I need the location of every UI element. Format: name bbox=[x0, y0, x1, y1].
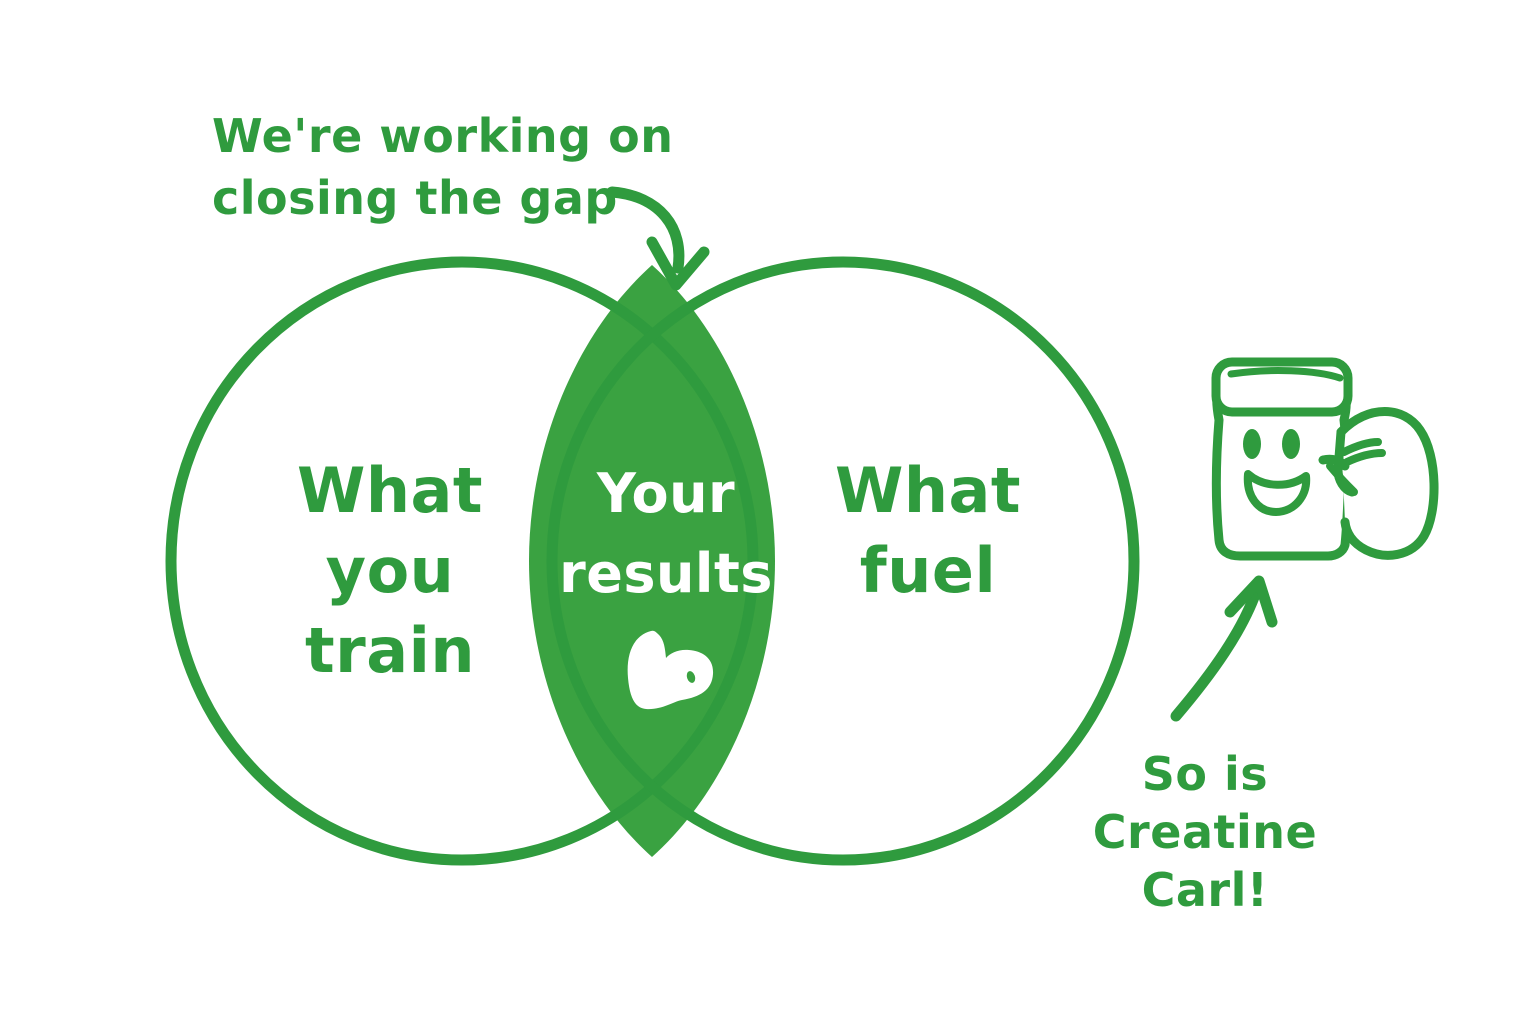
left-eye bbox=[1243, 429, 1261, 459]
right-circle-label-line1: What bbox=[835, 454, 1021, 527]
curved-arrow-up-icon bbox=[1176, 581, 1272, 716]
illustration-canvas: We're working on closing the gap What yo… bbox=[0, 0, 1536, 1024]
annotation-bottom-line1: So is bbox=[1142, 747, 1268, 801]
annotation-bottom-line3: Carl! bbox=[1142, 863, 1269, 917]
intersection-label-line1: Your bbox=[596, 462, 735, 525]
left-circle-label-line1: What bbox=[297, 454, 483, 527]
creatine-carl-jar-mascot bbox=[1216, 362, 1434, 556]
right-eye bbox=[1282, 429, 1300, 459]
intersection-label-line2: results bbox=[559, 542, 773, 605]
left-circle-label-line2: you bbox=[326, 534, 455, 607]
venn-diagram-illustration: We're working on closing the gap What yo… bbox=[0, 0, 1536, 1024]
left-circle-label-line3: train bbox=[305, 614, 475, 687]
annotation-bottom-line2: Creatine bbox=[1093, 805, 1317, 859]
annotation-top-line1: We're working on bbox=[212, 109, 673, 163]
annotation-top-line2: closing the gap bbox=[212, 171, 618, 225]
right-circle-label-line2: fuel bbox=[860, 534, 996, 607]
flexed-arm bbox=[1341, 412, 1434, 556]
